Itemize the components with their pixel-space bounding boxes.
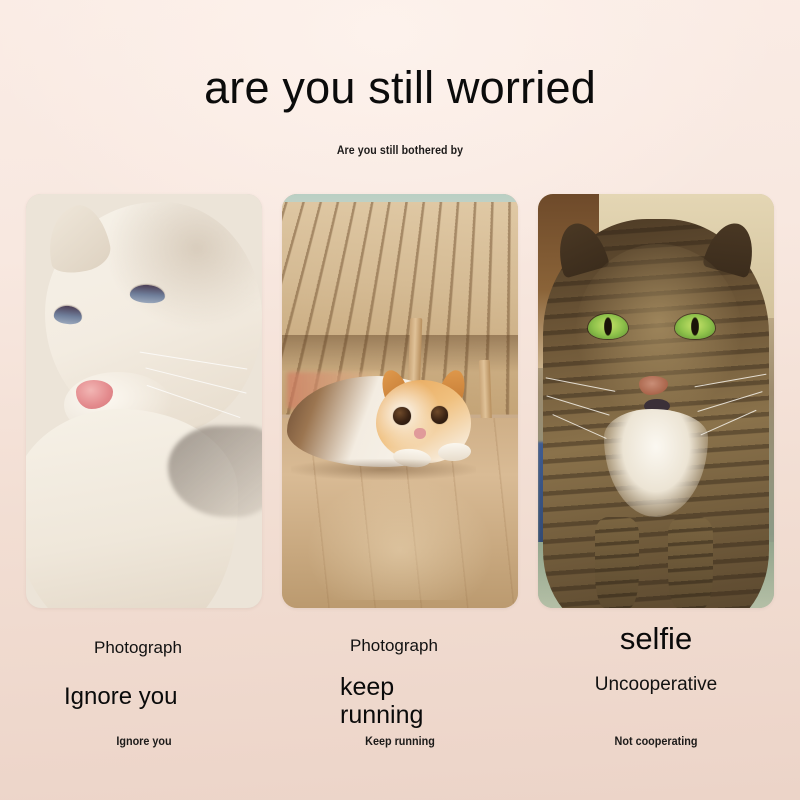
- cat-nose: [414, 428, 426, 439]
- cat-eye-right: [675, 314, 715, 339]
- caption-sub-3: Not cooperating: [545, 736, 767, 748]
- caption-mid-3: Uncooperative: [538, 674, 774, 696]
- photo-card-3[interactable]: [538, 194, 774, 608]
- caption-column-2: Photograph keep running Keep running: [282, 608, 518, 798]
- page-title: are you still worried: [0, 64, 800, 113]
- cat-photo-orange-under-bed: [282, 194, 518, 608]
- poster-root: are you still worried Are you still both…: [0, 0, 800, 800]
- caption-sub-1: Ignore you: [33, 736, 255, 748]
- photo-card-row: [26, 194, 774, 608]
- cat-photo-brown-tabby: [538, 194, 774, 608]
- photo-card-1[interactable]: [26, 194, 262, 608]
- photo-card-2[interactable]: [282, 194, 518, 608]
- caption-main-2: keep running: [340, 674, 460, 729]
- cat-eye-right: [431, 406, 449, 423]
- caption-row: Photograph Ignore you Ignore you Photogr…: [26, 608, 774, 798]
- page-subtitle: Are you still bothered by: [32, 145, 768, 157]
- caption-kicker-2: Photograph: [350, 636, 450, 656]
- cat-photo-white-cream: [26, 194, 262, 608]
- caption-column-1: Photograph Ignore you Ignore you: [26, 608, 262, 798]
- cat-eye-left: [393, 407, 411, 424]
- cat-floor-shadow: [291, 459, 475, 480]
- caption-main-3: selfie: [538, 622, 774, 656]
- cat-eye-left: [588, 314, 628, 339]
- caption-column-3: selfie Uncooperative Not cooperating: [538, 608, 774, 798]
- caption-sub-2: Keep running: [289, 736, 511, 748]
- caption-kicker-1: Photograph: [94, 638, 194, 658]
- cat-leg-right: [668, 517, 713, 608]
- cat-leg-left: [595, 517, 640, 608]
- caption-main-1: Ignore you: [64, 684, 224, 710]
- floor-light-glow: [306, 476, 495, 600]
